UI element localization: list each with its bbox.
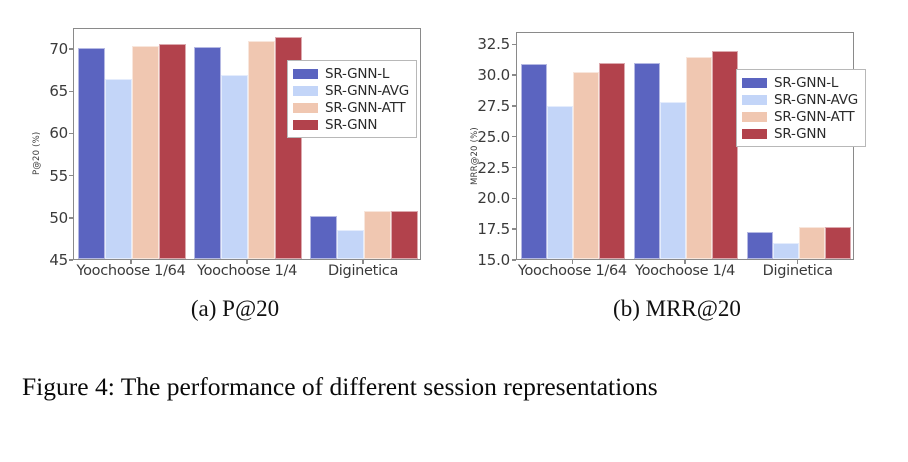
subcaption-p20: (a) P@20 xyxy=(20,296,450,322)
bar-sr-gnn-att-diginetica xyxy=(799,227,825,259)
legend-label: SR-GNN-L xyxy=(325,66,389,82)
axes-frame-mrr20: SR-GNN-LSR-GNN-AVGSR-GNN-ATTSR-GNN xyxy=(516,32,854,260)
y-tick-mark xyxy=(512,198,516,199)
y-tick-mark xyxy=(512,105,516,106)
legend-swatch-icon xyxy=(293,120,318,130)
bar-sr-gnn-avg-yoochoose-1-4 xyxy=(221,75,248,259)
bar-sr-gnn-l-diginetica xyxy=(310,216,337,259)
legend-label: SR-GNN-AVG xyxy=(325,83,409,99)
x-tick-mark xyxy=(246,260,247,264)
subcaption-mrr20: (b) MRR@20 xyxy=(462,296,892,322)
bar-sr-gnn-avg-diginetica xyxy=(773,243,799,259)
y-axis-title-mrr20: MRR@20 (%) xyxy=(470,127,480,185)
y-tick-mark xyxy=(512,259,516,260)
y-tick-mark xyxy=(512,74,516,75)
legend-swatch-icon xyxy=(742,112,767,122)
bar-sr-gnn-yoochoose-1-64 xyxy=(159,44,186,259)
bar-sr-gnn-l-yoochoose-1-4 xyxy=(634,63,660,259)
legend-label: SR-GNN-AVG xyxy=(774,92,858,108)
y-tick-label: 20.0 xyxy=(477,189,510,207)
legend-mrr20: SR-GNN-LSR-GNN-AVGSR-GNN-ATTSR-GNN xyxy=(736,69,866,147)
legend-item-sr-gnn-avg[interactable]: SR-GNN-AVG xyxy=(742,91,858,108)
bar-sr-gnn-yoochoose-1-4 xyxy=(712,51,738,259)
bar-sr-gnn-l-yoochoose-1-64 xyxy=(78,48,105,259)
x-tick-label: Yoochoose 1/64 xyxy=(518,263,627,279)
y-tick-mark xyxy=(69,175,73,176)
legend-label: SR-GNN xyxy=(325,117,377,133)
x-tick-label: Diginetica xyxy=(763,263,833,279)
y-tick-label: 17.5 xyxy=(477,220,510,238)
x-tick-mark xyxy=(130,260,131,264)
plot-area-mrr20: 15.017.520.022.525.027.530.032.5 MRR@20 … xyxy=(462,0,892,290)
axes-frame-p20: SR-GNN-LSR-GNN-AVGSR-GNN-ATTSR-GNN xyxy=(73,28,421,260)
legend-label: SR-GNN-ATT xyxy=(774,109,854,125)
y-tick-mark xyxy=(512,136,516,137)
y-tick-mark xyxy=(512,228,516,229)
y-tick-label: 25.0 xyxy=(477,128,510,146)
legend-swatch-icon xyxy=(742,78,767,88)
legend-item-sr-gnn-l[interactable]: SR-GNN-L xyxy=(742,74,858,91)
legend-item-sr-gnn-avg[interactable]: SR-GNN-AVG xyxy=(293,82,409,99)
legend-swatch-icon xyxy=(742,129,767,139)
bar-sr-gnn-att-yoochoose-1-64 xyxy=(573,72,599,259)
y-tick-mark xyxy=(69,91,73,92)
bar-sr-gnn-att-diginetica xyxy=(364,211,391,259)
figure-caption: Figure 4: The performance of different s… xyxy=(22,370,890,404)
y-tick-label: 45 xyxy=(49,251,68,269)
y-tick-mark xyxy=(512,44,516,45)
x-tick-mark xyxy=(572,260,573,264)
bar-sr-gnn-avg-diginetica xyxy=(337,230,364,259)
bar-sr-gnn-l-yoochoose-1-64 xyxy=(521,64,547,259)
x-tick-label: Yoochoose 1/4 xyxy=(635,263,735,279)
y-tick-label: 30.0 xyxy=(477,66,510,84)
bar-sr-gnn-avg-yoochoose-1-4 xyxy=(660,102,686,259)
legend-item-sr-gnn-att[interactable]: SR-GNN-ATT xyxy=(293,99,409,116)
bar-sr-gnn-diginetica xyxy=(391,211,418,259)
figure-4: 455055606570 P@20 (%) SR-GNN-LSR-GNN-AVG… xyxy=(0,0,908,355)
plot-area-p20: 455055606570 P@20 (%) SR-GNN-LSR-GNN-AVG… xyxy=(20,0,450,290)
y-tick-mark xyxy=(69,48,73,49)
y-tick-label: 60 xyxy=(49,124,68,142)
y-tick-label: 22.5 xyxy=(477,159,510,177)
bar-sr-gnn-yoochoose-1-64 xyxy=(599,63,625,259)
y-tick-label: 27.5 xyxy=(477,97,510,115)
bar-sr-gnn-l-diginetica xyxy=(747,232,773,259)
bar-sr-gnn-avg-yoochoose-1-64 xyxy=(105,79,132,259)
x-tick-mark xyxy=(684,260,685,264)
legend-label: SR-GNN-L xyxy=(774,75,838,91)
y-axis-title-p20: P@20 (%) xyxy=(32,132,42,175)
y-tick-label: 65 xyxy=(49,82,68,100)
y-tick-mark xyxy=(512,167,516,168)
y-tick-mark xyxy=(69,259,73,260)
legend-swatch-icon xyxy=(293,69,318,79)
x-tick-label: Yoochoose 1/64 xyxy=(76,263,185,279)
legend-label: SR-GNN-ATT xyxy=(325,100,405,116)
legend-swatch-icon xyxy=(293,86,318,96)
bar-sr-gnn-l-yoochoose-1-4 xyxy=(194,47,221,259)
y-tick-label: 55 xyxy=(49,167,68,185)
legend-item-sr-gnn[interactable]: SR-GNN xyxy=(293,116,409,133)
legend-swatch-icon xyxy=(293,103,318,113)
x-tick-mark xyxy=(797,260,798,264)
y-tick-mark xyxy=(69,133,73,134)
legend-item-sr-gnn[interactable]: SR-GNN xyxy=(742,125,858,142)
bar-sr-gnn-att-yoochoose-1-64 xyxy=(132,46,159,259)
legend-p20: SR-GNN-LSR-GNN-AVGSR-GNN-ATTSR-GNN xyxy=(287,60,417,138)
y-tick-label: 70 xyxy=(49,40,68,58)
bar-sr-gnn-att-yoochoose-1-4 xyxy=(248,41,275,259)
y-tick-label: 32.5 xyxy=(477,35,510,53)
legend-swatch-icon xyxy=(742,95,767,105)
x-tick-label: Yoochoose 1/4 xyxy=(197,263,297,279)
bar-sr-gnn-att-yoochoose-1-4 xyxy=(686,57,712,259)
bar-sr-gnn-avg-yoochoose-1-64 xyxy=(547,106,573,259)
y-tick-label: 15.0 xyxy=(477,251,510,269)
x-tick-mark xyxy=(362,260,363,264)
legend-item-sr-gnn-l[interactable]: SR-GNN-L xyxy=(293,65,409,82)
bar-sr-gnn-diginetica xyxy=(825,227,851,259)
y-tick-label: 50 xyxy=(49,209,68,227)
x-tick-label: Diginetica xyxy=(328,263,398,279)
legend-label: SR-GNN xyxy=(774,126,826,142)
legend-item-sr-gnn-att[interactable]: SR-GNN-ATT xyxy=(742,108,858,125)
y-tick-mark xyxy=(69,217,73,218)
